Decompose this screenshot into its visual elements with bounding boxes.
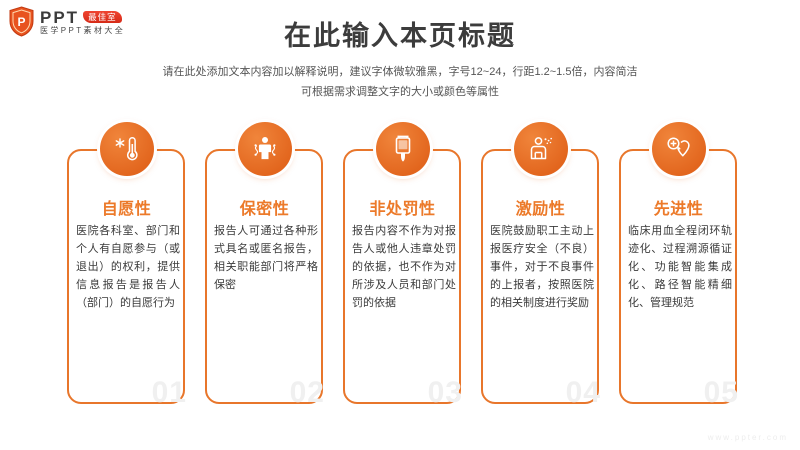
card-item[interactable]: 保密性 报告人可通过各种形式具名或匿名报告，相关职能部门将严格保密 02 <box>198 122 331 412</box>
card-body: 报告内容不作为对报告人或他人违章处罚的依据，也不作为对所涉及人员和部门处罚的依据 <box>352 222 456 312</box>
patient-molecule-icon <box>238 122 292 176</box>
card-heading: 保密性 <box>198 195 331 219</box>
card-number: 04 <box>566 376 601 410</box>
card-heading: 激励性 <box>474 195 607 219</box>
card-item[interactable]: 激励性 医院鼓励职工主动上报医疗安全（不良）事件，对于不良事件的上报者，按照医院… <box>474 122 607 412</box>
card-number: 02 <box>290 376 325 410</box>
card-item[interactable]: 先进性 临床用血全程闭环轨迹化、过程溯源循证化、功能智能集成化、路径智能精细化、… <box>612 122 745 412</box>
card-number: 01 <box>152 376 187 410</box>
subtitle-line-1: 请在此处添加文本内容加以解释说明，建议字体微软雅黑，字号12~24，行距1.2~… <box>0 62 800 82</box>
card-heading: 自愿性 <box>60 195 193 219</box>
subtitle-line-2: 可根据需求调整文字的大小或颜色等属性 <box>0 82 800 102</box>
card-body: 医院鼓励职工主动上报医疗安全（不良）事件，对于不良事件的上报者，按照医院的相关制… <box>490 222 594 312</box>
heart-cross-icon <box>652 122 706 176</box>
card-item[interactable]: 非处罚性 报告内容不作为对报告人或他人违章处罚的依据，也不作为对所涉及人员和部门… <box>336 122 469 412</box>
page-title: 在此输入本页标题 <box>0 14 800 53</box>
card-item[interactable]: 自愿性 医院各科室、部门和个人有自愿参与（或退出）的权利，提供信息报告是报告人（… <box>60 122 193 412</box>
card-body: 临床用血全程闭环轨迹化、过程溯源循证化、功能智能集成化、路径智能精细化、管理规范 <box>628 222 732 312</box>
card-list: 自愿性 医院各科室、部门和个人有自愿参与（或退出）的权利，提供信息报告是报告人（… <box>60 122 750 412</box>
card-number: 03 <box>428 376 463 410</box>
patient-lungs-icon <box>514 122 568 176</box>
thermometer-icon <box>100 122 154 176</box>
card-heading: 非处罚性 <box>336 195 469 219</box>
card-heading: 先进性 <box>612 195 745 219</box>
page-subtitle: 请在此处添加文本内容加以解释说明，建议字体微软雅黑，字号12~24，行距1.2~… <box>0 62 800 102</box>
iv-blood-bag-icon <box>376 122 430 176</box>
card-number: 05 <box>704 376 739 410</box>
card-body: 报告人可通过各种形式具名或匿名报告，相关职能部门将严格保密 <box>214 222 318 294</box>
card-body: 医院各科室、部门和个人有自愿参与（或退出）的权利，提供信息报告是报告人（部门）的… <box>76 222 180 312</box>
site-watermark: www.ppter.com <box>708 433 788 442</box>
